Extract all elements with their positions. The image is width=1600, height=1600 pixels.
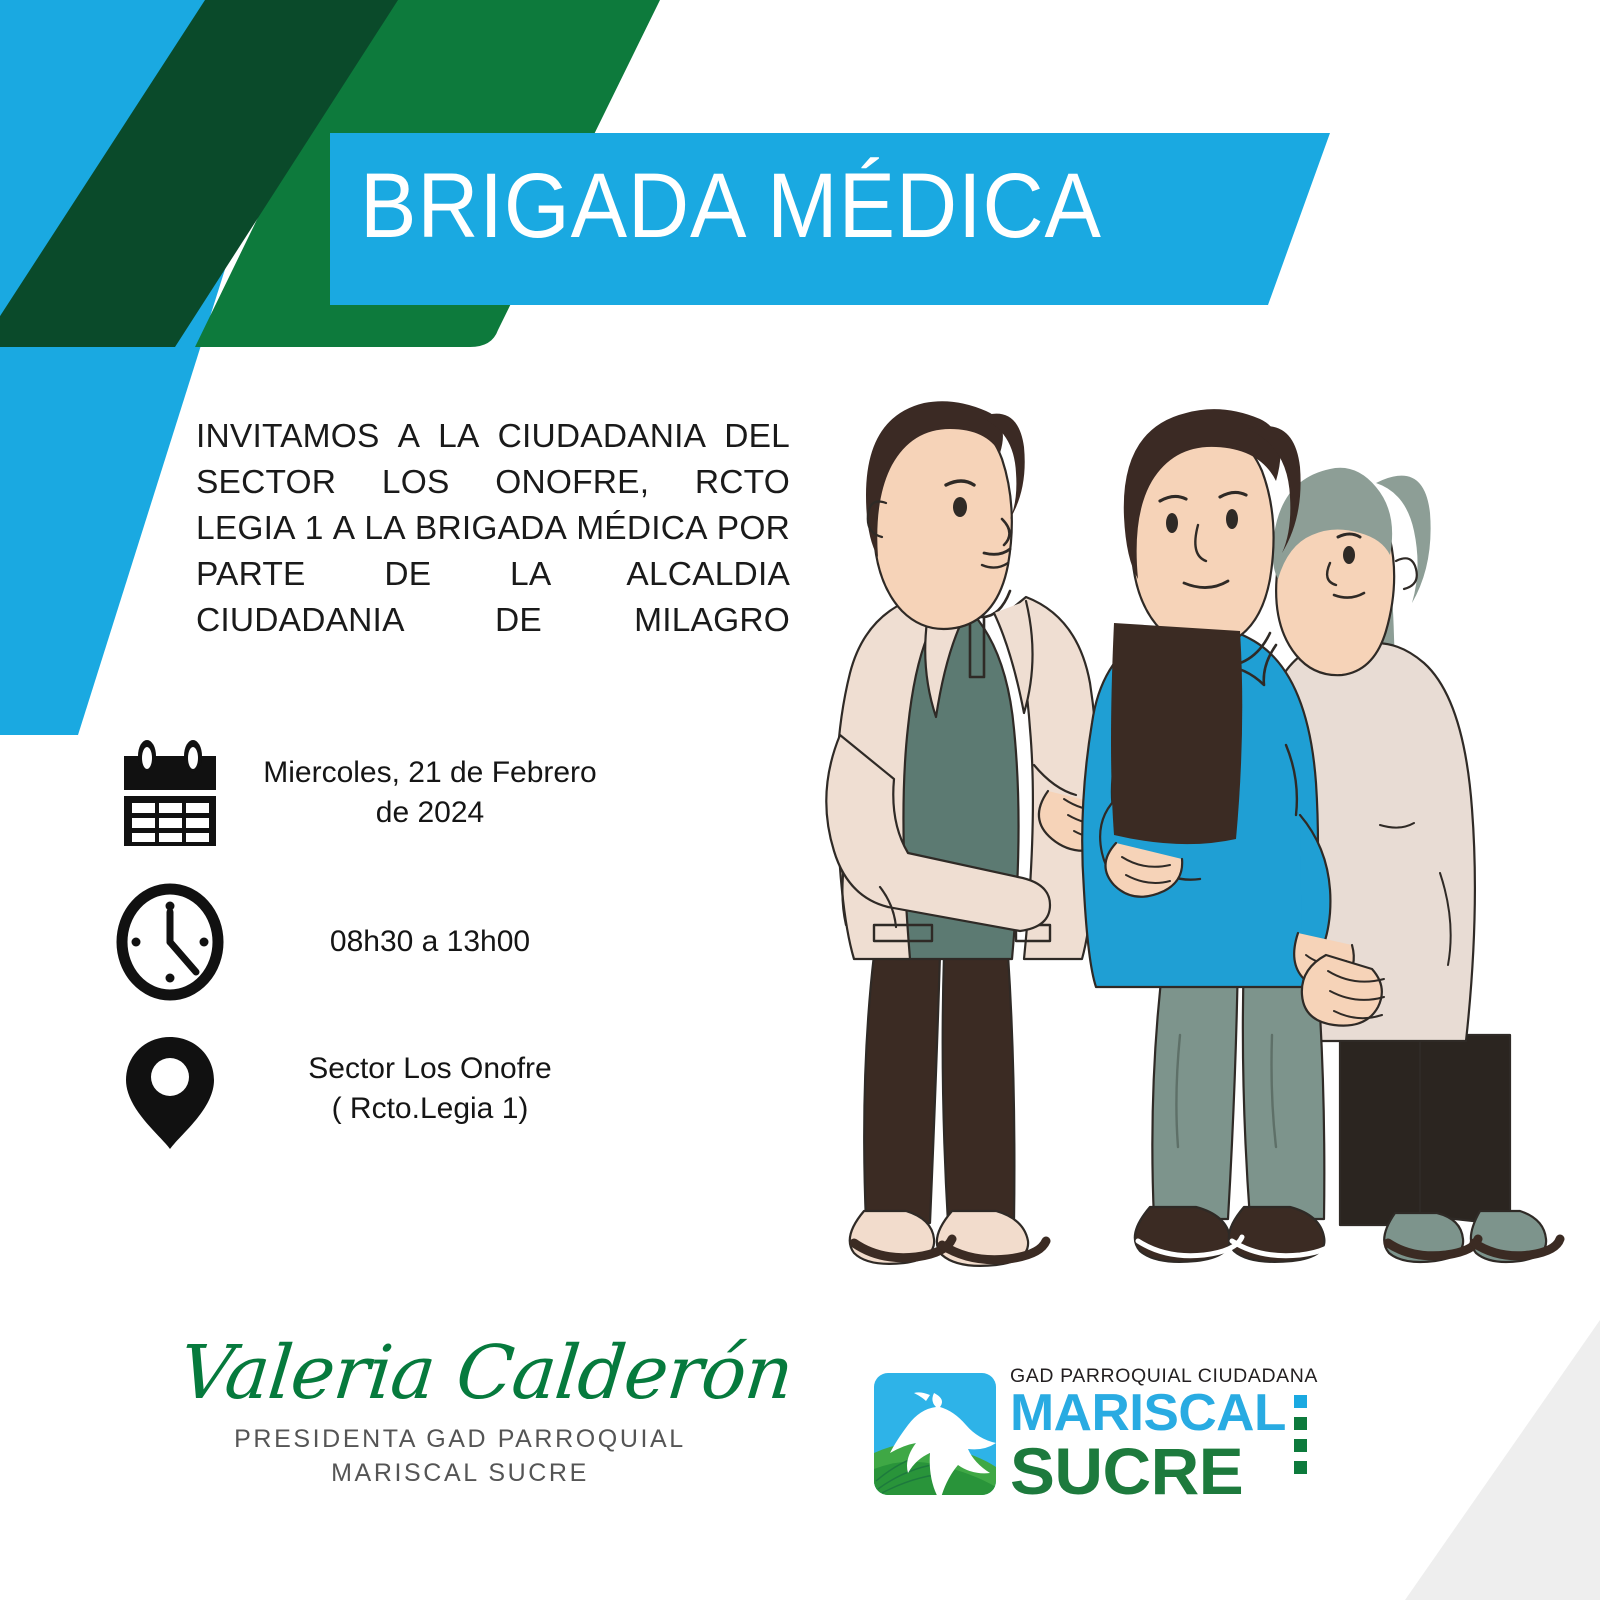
detail-place-text: Sector Los Onofre ( Rcto.Legia 1)	[230, 1049, 630, 1129]
logo-color-chips	[1294, 1395, 1308, 1483]
poster-canvas: BRIGADA MÉDICA INVITAMOS A LA CIUDADANIA…	[0, 0, 1600, 1600]
signature-role-line2: MARISCAL SUCRE	[180, 1456, 740, 1490]
logo-chip-cyan	[1294, 1395, 1307, 1408]
clipboard	[1111, 623, 1242, 844]
detail-row-place: Sector Los Onofre ( Rcto.Legia 1)	[110, 1025, 630, 1153]
invitation-text: INVITAMOS A LA CIUDADANIA DEL SECTOR LOS…	[196, 414, 790, 644]
detail-place-line1: Sector Los Onofre	[230, 1049, 630, 1089]
detail-date-line2: de 2024	[230, 793, 630, 833]
detail-time-line1: 08h30 a 13h00	[230, 922, 630, 962]
location-pin-icon	[110, 1025, 230, 1153]
signature-name: Valeria Calderón	[175, 1330, 744, 1416]
detail-date-text: Miercoles, 21 de Febrero de 2024	[230, 753, 630, 833]
title-banner: BRIGADA MÉDICA	[0, 0, 1600, 330]
logo-chip-green-2	[1294, 1439, 1307, 1452]
signature-role-line1: PRESIDENTA GAD PARROQUIAL	[180, 1422, 740, 1456]
detail-place-line2: ( Rcto.Legia 1)	[230, 1089, 630, 1129]
gad-mariscal-sucre-logo: GAD PARROQUIAL CIUDADANA MARISCAL SUCRE	[874, 1335, 1304, 1505]
logo-chip-green-3	[1294, 1461, 1307, 1474]
detail-row-date: Miercoles, 21 de Febrero de 2024	[110, 740, 630, 846]
signature-block: Valeria Calderón PRESIDENTA GAD PARROQUI…	[180, 1330, 740, 1490]
detail-row-time: 08h30 a 13h00	[110, 880, 630, 1004]
logo-chip-green-1	[1294, 1417, 1307, 1430]
detail-time-text: 08h30 a 13h00	[230, 922, 630, 962]
page-title: BRIGADA MÉDICA	[360, 152, 1188, 262]
clock-icon	[110, 880, 230, 1004]
logo-name-top: MARISCAL	[1010, 1387, 1316, 1439]
detail-date-line1: Miercoles, 21 de Febrero	[230, 753, 630, 793]
doctor-with-patient-and-companion-illustration	[820, 395, 1580, 1315]
heron-over-fields-icon	[874, 1373, 996, 1495]
bottom-right-gray-wedge	[1405, 1320, 1600, 1600]
logo-wordmark: GAD PARROQUIAL CIUDADANA MARISCAL SUCRE	[1010, 1365, 1310, 1503]
logo-name-bottom: SUCRE	[1010, 1439, 1316, 1503]
calendar-icon	[110, 740, 230, 846]
signature-role: PRESIDENTA GAD PARROQUIAL MARISCAL SUCRE	[180, 1422, 740, 1490]
